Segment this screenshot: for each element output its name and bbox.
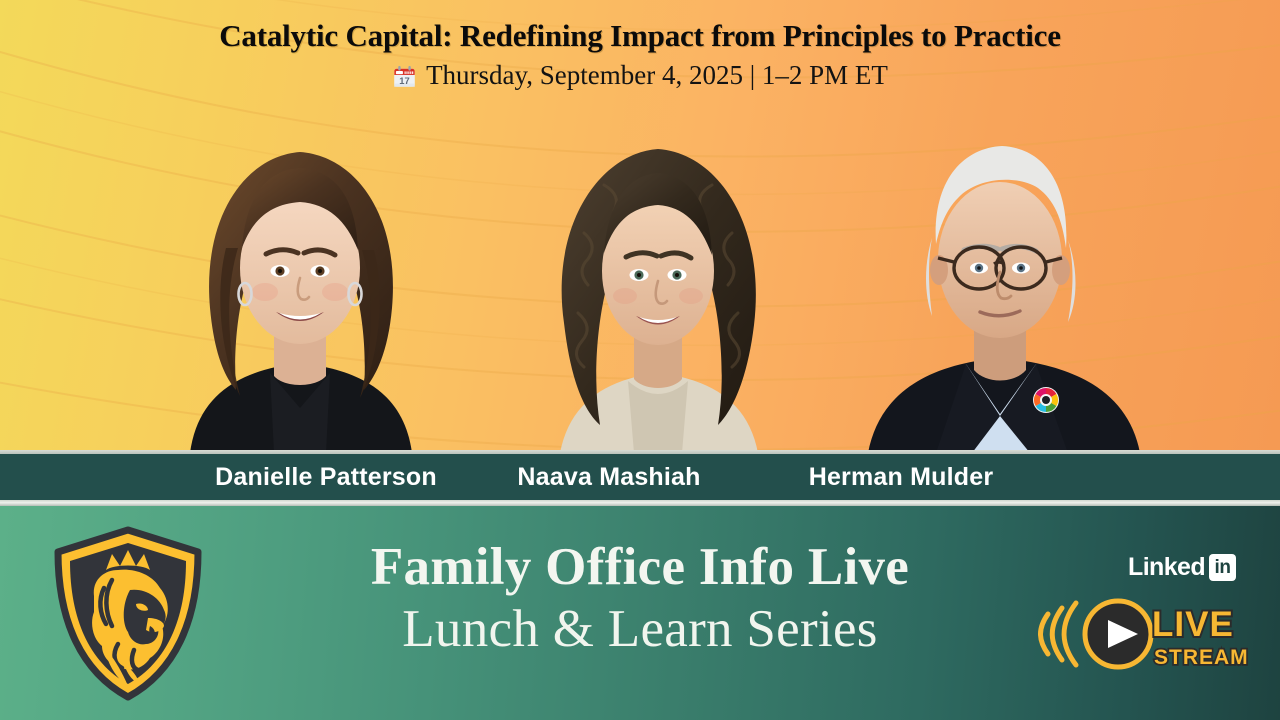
lion-shield-logo — [48, 526, 208, 701]
svg-text:LIVE: LIVE — [1152, 605, 1234, 644]
linkedin-in-icon: in — [1209, 554, 1236, 581]
event-datetime-text: Thursday, September 4, 2025 | 1–2 PM ET — [426, 60, 888, 91]
divider-bottom — [0, 500, 1280, 506]
svg-text:STREAM: STREAM — [1154, 646, 1249, 669]
speaker-name-1: Danielle Patterson — [186, 463, 466, 492]
speaker-name-2: Naava Mashiah — [484, 463, 734, 492]
speaker-photo-3 — [840, 108, 1190, 453]
stream-word: STREAM — [1154, 646, 1249, 669]
live-stream-graphic: LIVE STREAM — [1032, 586, 1252, 678]
speaker-photos — [0, 93, 1280, 453]
live-word: LIVE — [1152, 605, 1234, 644]
calendar-icon: 17 — [392, 64, 417, 89]
page-title: Catalytic Capital: Redefining Impact fro… — [0, 18, 1280, 54]
linkedin-word: Linked — [1128, 555, 1205, 580]
hero-header: Catalytic Capital: Redefining Impact fro… — [0, 0, 1280, 453]
hero-text-block: Catalytic Capital: Redefining Impact fro… — [0, 0, 1280, 91]
brand-footer: Family Office Info Live Lunch & Learn Se… — [0, 506, 1280, 720]
brand-title-line2: Lunch & Learn Series — [290, 599, 990, 659]
brand-title-line1: Family Office Info Live — [290, 538, 990, 597]
brand-title-block: Family Office Info Live Lunch & Learn Se… — [290, 538, 990, 660]
linkedin-wordmark: Linked in — [1128, 554, 1236, 581]
speaker-photo-2 — [508, 113, 808, 453]
speaker-name-3: Herman Mulder — [776, 463, 1026, 492]
webinar-banner: Catalytic Capital: Redefining Impact fro… — [0, 0, 1280, 720]
speaker-names-band: Danielle Patterson Naava Mashiah Herman … — [0, 454, 1280, 500]
svg-text:17: 17 — [399, 76, 409, 86]
event-datetime: 17 Thursday, September 4, 2025 | 1–2 PM … — [0, 60, 1280, 91]
linkedin-live-badge[interactable]: Linked in LIVE — [1032, 554, 1252, 679]
speaker-photo-1 — [150, 108, 450, 453]
